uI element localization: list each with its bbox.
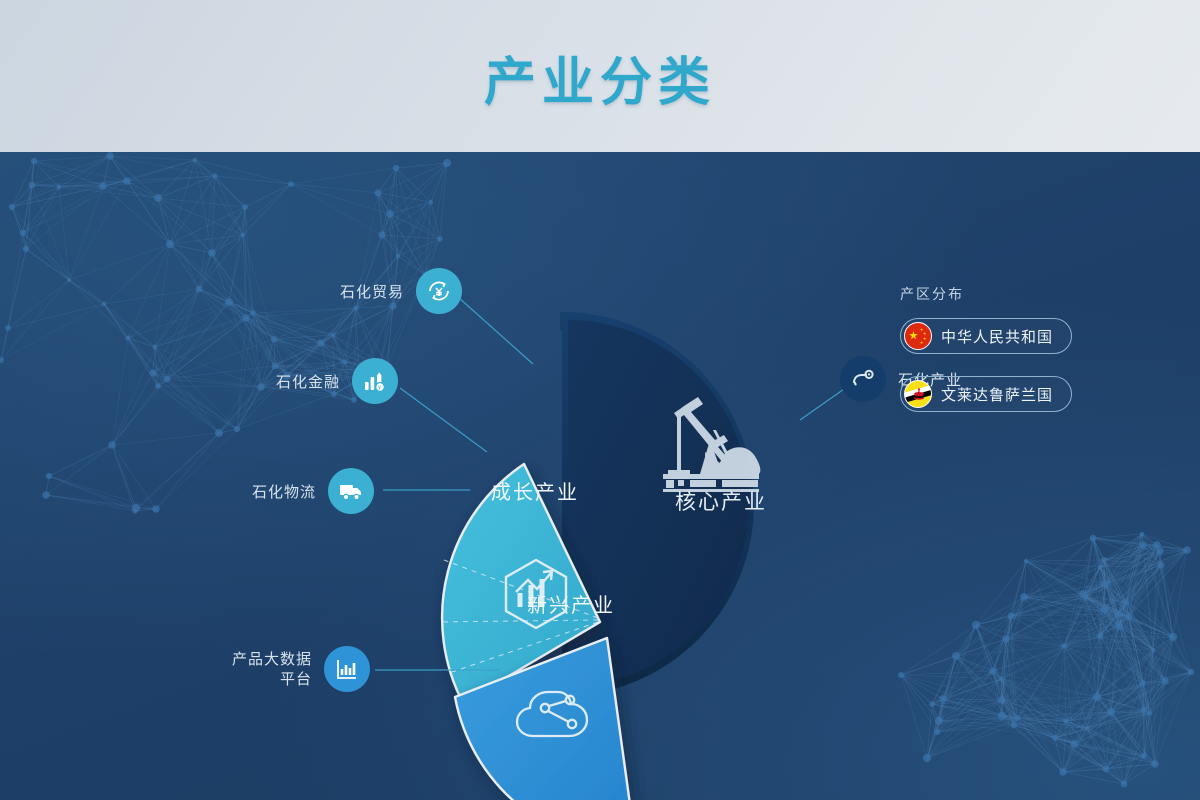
truck-icon[interactable] — [328, 468, 374, 514]
country-pill-brunei[interactable]: 文莱达鲁萨兰国 — [900, 376, 1072, 412]
country-name: 文莱达鲁萨兰国 — [941, 384, 1053, 405]
region-distribution-block: 产区分布 中华人民共和国 文莱达鲁萨 — [900, 284, 1160, 434]
finance-bars-icon[interactable]: ¥ — [352, 358, 398, 404]
svg-text:¥: ¥ — [378, 385, 382, 391]
country-pill-china[interactable]: 中华人民共和国 — [900, 318, 1072, 354]
label-text-line2: 平台 — [232, 669, 312, 689]
header-bar: 产业分类 — [0, 0, 1200, 152]
label-text: 石化贸易 — [340, 281, 404, 302]
label-text-line1: 产品大数据 — [232, 649, 312, 669]
label-product-bigdata-platform[interactable]: 产品大数据 平台 — [232, 646, 370, 692]
flag-brunei-icon — [904, 380, 932, 408]
slide-canvas: 产业分类 — [0, 0, 1200, 800]
country-name: 中华人民共和国 — [941, 326, 1053, 347]
flag-china-icon — [904, 322, 932, 350]
emerging-segment-label: 新兴产业 — [527, 593, 615, 617]
region-distribution-title: 产区分布 — [900, 284, 1160, 304]
label-text: 石化物流 — [252, 481, 316, 502]
bar-chart-icon[interactable] — [324, 646, 370, 692]
growth-segment-label: 成长产业 — [491, 480, 579, 504]
label-petrochemical-logistics[interactable]: 石化物流 — [252, 468, 374, 514]
oil-derrick-icon[interactable] — [840, 356, 886, 402]
industry-pie-chart: 核心产业 成长产业 新兴产业 — [0, 152, 1200, 800]
label-petrochemical-trade[interactable]: 石化贸易 — [340, 268, 462, 314]
label-petrochemical-finance[interactable]: 石化金融 ¥ — [276, 358, 398, 404]
label-text: 石化金融 — [276, 371, 340, 392]
brunei-crest — [911, 386, 927, 402]
currency-exchange-icon[interactable] — [416, 268, 462, 314]
core-segment-label: 核心产业 — [675, 490, 767, 514]
page-title: 产业分类 — [0, 40, 1200, 115]
